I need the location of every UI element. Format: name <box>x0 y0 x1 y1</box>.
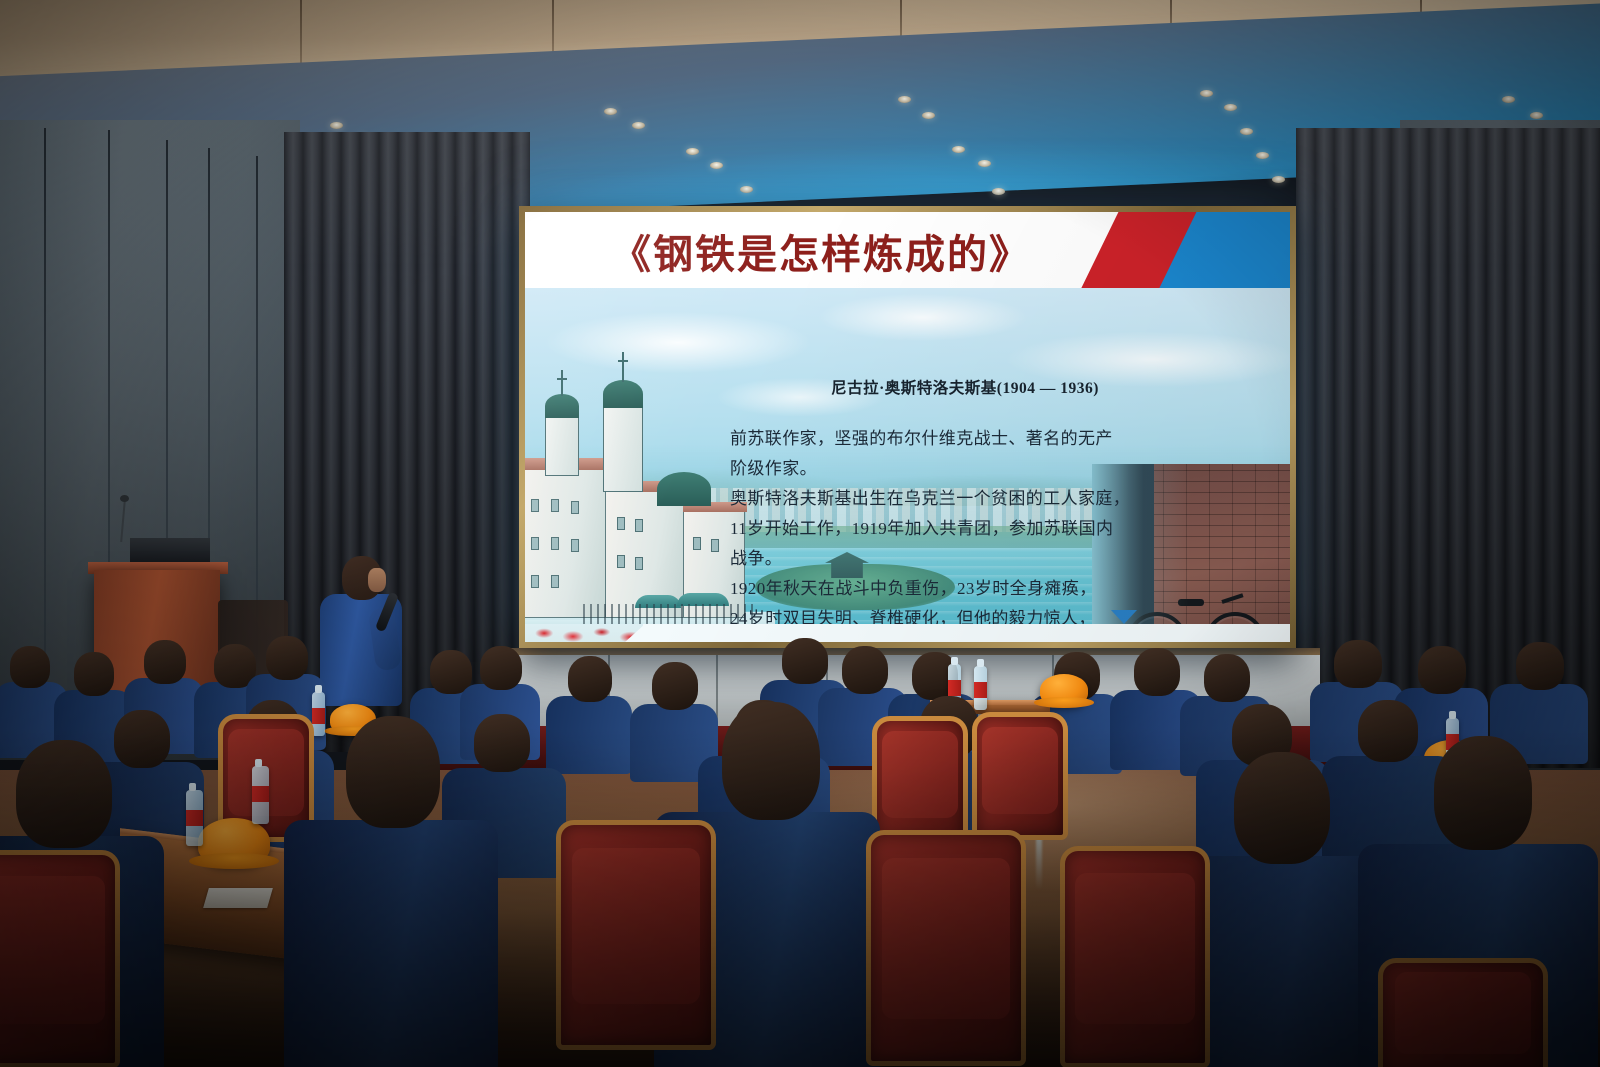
presenter-face <box>368 568 386 592</box>
head <box>782 638 828 684</box>
sketch-window <box>617 555 625 568</box>
safety-helmet <box>198 818 270 866</box>
water-bottle <box>252 766 269 824</box>
recessed-downlight <box>1272 176 1285 183</box>
bottle-label <box>948 680 961 696</box>
chair-cushion <box>982 727 1059 814</box>
sketch-tower-dome <box>603 380 643 408</box>
head <box>346 716 440 828</box>
slide-bottom-band <box>643 624 1290 642</box>
chair-cushion <box>1395 972 1531 1054</box>
audience-member <box>1120 648 1184 760</box>
slide-line: 奥斯特洛夫斯基出生在乌克兰一个贫困的工人家庭， <box>730 484 1200 514</box>
head <box>266 636 308 680</box>
slide-line: 11岁开始工作，1919年加入共青团，参加苏联国内 <box>730 514 1200 544</box>
head <box>480 646 522 690</box>
slide-line: 1920年秋天在战斗中负重伤，23岁时全身瘫痪， <box>730 574 1200 604</box>
audience-member <box>556 656 618 768</box>
recessed-downlight <box>992 188 1005 195</box>
slide-paragraph: 前苏联作家，坚强的布尔什维克战士、著名的无产 阶级作家。 奥斯特洛夫斯基出生在乌… <box>730 424 1200 642</box>
slide-line: 战争。 <box>730 544 1200 574</box>
recessed-downlight <box>1502 96 1515 103</box>
chair-cushion <box>882 858 1010 1018</box>
head <box>1434 736 1532 850</box>
conference-hall-photo: 《钢铁是怎样炼成的》 <box>0 0 1600 1067</box>
sketch-window <box>635 557 643 570</box>
recessed-downlight <box>1240 128 1253 135</box>
podium-microphone-head <box>120 495 129 502</box>
slide-title: 《钢铁是怎样炼成的》 <box>561 218 1081 284</box>
recessed-downlight <box>978 160 991 167</box>
head <box>1234 752 1330 864</box>
banquet-chair <box>556 820 716 1050</box>
recessed-downlight <box>922 112 935 119</box>
slide-bottom-corner <box>625 624 645 642</box>
recessed-downlight <box>1256 152 1269 159</box>
podium-laptop <box>130 538 210 564</box>
sketch-window <box>531 575 539 588</box>
head <box>568 656 612 702</box>
sketch-spire <box>561 370 563 396</box>
recessed-downlight <box>710 162 723 169</box>
head <box>1334 640 1382 688</box>
sketch-window <box>551 575 559 588</box>
sketch-window <box>551 499 559 512</box>
safety-helmet <box>1040 674 1088 706</box>
sketch-window <box>617 517 625 530</box>
sketch-tower-dome <box>545 394 579 418</box>
uniform <box>546 696 632 774</box>
sketch-window <box>571 539 579 552</box>
recessed-downlight <box>632 122 645 129</box>
sketch-cross <box>557 378 567 380</box>
water-bottle <box>186 790 203 846</box>
recessed-downlight <box>952 146 965 153</box>
head <box>10 646 50 688</box>
head <box>842 646 888 694</box>
chair-cushion <box>882 731 959 818</box>
sketch-window <box>551 537 559 550</box>
head <box>1516 642 1564 690</box>
head <box>1204 654 1250 702</box>
slide-header: 《钢铁是怎样炼成的》 <box>525 212 1290 288</box>
sketch-window <box>711 539 719 552</box>
sketch-spire <box>622 352 624 382</box>
recessed-downlight <box>898 96 911 103</box>
audience-member <box>1200 752 1350 1067</box>
sketch-green-dome <box>657 472 711 506</box>
banquet-chair <box>0 850 120 1067</box>
banquet-chair <box>1060 846 1210 1067</box>
banquet-chair <box>872 716 968 844</box>
banquet-chair <box>1378 958 1548 1067</box>
recessed-downlight <box>1200 90 1213 97</box>
slide-text-block: 尼古拉·奥斯特洛夫斯基(1904 — 1936) 前苏联作家，坚强的布尔什维克战… <box>730 376 1200 642</box>
head <box>474 714 530 772</box>
handout-paper <box>203 888 273 908</box>
sketch-window <box>693 537 701 550</box>
sketch-church-tower <box>545 416 579 476</box>
head <box>1134 648 1180 696</box>
sketch-cross <box>618 360 628 362</box>
chair-cushion <box>572 848 700 1004</box>
slide-author-line: 尼古拉·奥斯特洛夫斯基(1904 — 1936) <box>730 376 1200 398</box>
head <box>1418 646 1466 694</box>
sketch-church-tower <box>603 406 643 492</box>
slide-body: 尼古拉·奥斯特洛夫斯基(1904 — 1936) 前苏联作家，坚强的布尔什维克战… <box>525 288 1290 642</box>
floor-light-reflection <box>1036 836 1042 890</box>
head <box>722 702 820 820</box>
banquet-chair <box>866 830 1026 1066</box>
audience-member <box>316 716 456 1066</box>
chair-cushion <box>1075 873 1195 1024</box>
recessed-downlight <box>330 122 343 129</box>
banquet-chair <box>972 712 1068 840</box>
bottle-label <box>252 786 269 802</box>
sketch-window <box>571 501 579 514</box>
uniform <box>284 820 498 1067</box>
chair-cushion <box>0 876 105 1024</box>
presenter <box>318 556 404 706</box>
wall-panel-seam <box>44 128 46 728</box>
bottle-label <box>186 810 203 826</box>
sketch-window <box>531 499 539 512</box>
sketch-window <box>635 519 643 532</box>
recessed-downlight <box>604 108 617 115</box>
sketch-window <box>531 537 539 550</box>
slide-line: 阶级作家。 <box>730 454 1200 484</box>
recessed-downlight <box>686 148 699 155</box>
head <box>16 740 112 848</box>
head <box>74 652 114 696</box>
slide-line: 前苏联作家，坚强的布尔什维克战士、著名的无产 <box>730 424 1200 454</box>
recessed-downlight <box>740 186 753 193</box>
head <box>144 640 186 684</box>
presentation-slide[interactable]: 《钢铁是怎样炼成的》 <box>525 212 1290 642</box>
recessed-downlight <box>1530 112 1543 119</box>
recessed-downlight <box>1224 104 1237 111</box>
